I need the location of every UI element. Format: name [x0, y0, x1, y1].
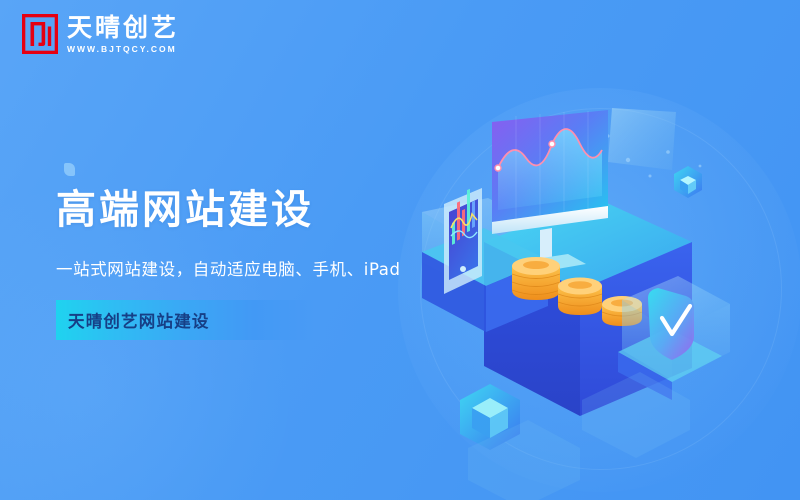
coin-stack-medium	[558, 278, 602, 316]
brand-url: WWW.BJTQCY.COM	[67, 44, 179, 54]
tablet-bar-chart	[444, 188, 482, 294]
isometric-scene-svg	[400, 100, 800, 500]
tianqing-square-logo-icon	[22, 14, 58, 54]
brand-logo-text: 天晴创艺 WWW.BJTQCY.COM	[67, 14, 179, 54]
cube-icon-upper-right	[674, 166, 702, 198]
cta-label: 天晴创艺网站建设	[68, 308, 210, 332]
brand-name: 天晴创艺	[67, 14, 179, 41]
cta-button[interactable]: 天晴创艺网站建设	[56, 300, 374, 340]
accent-mark	[64, 163, 75, 176]
brand-logo[interactable]: 天晴创艺 WWW.BJTQCY.COM	[22, 14, 179, 54]
coin-stack-tall	[512, 257, 560, 300]
floating-panel-upper-right	[608, 108, 676, 170]
hero-illustration	[400, 100, 800, 500]
hero-banner: 天晴创艺 WWW.BJTQCY.COM 高端网站建设 一站式网站建设，自动适应电…	[0, 0, 800, 500]
